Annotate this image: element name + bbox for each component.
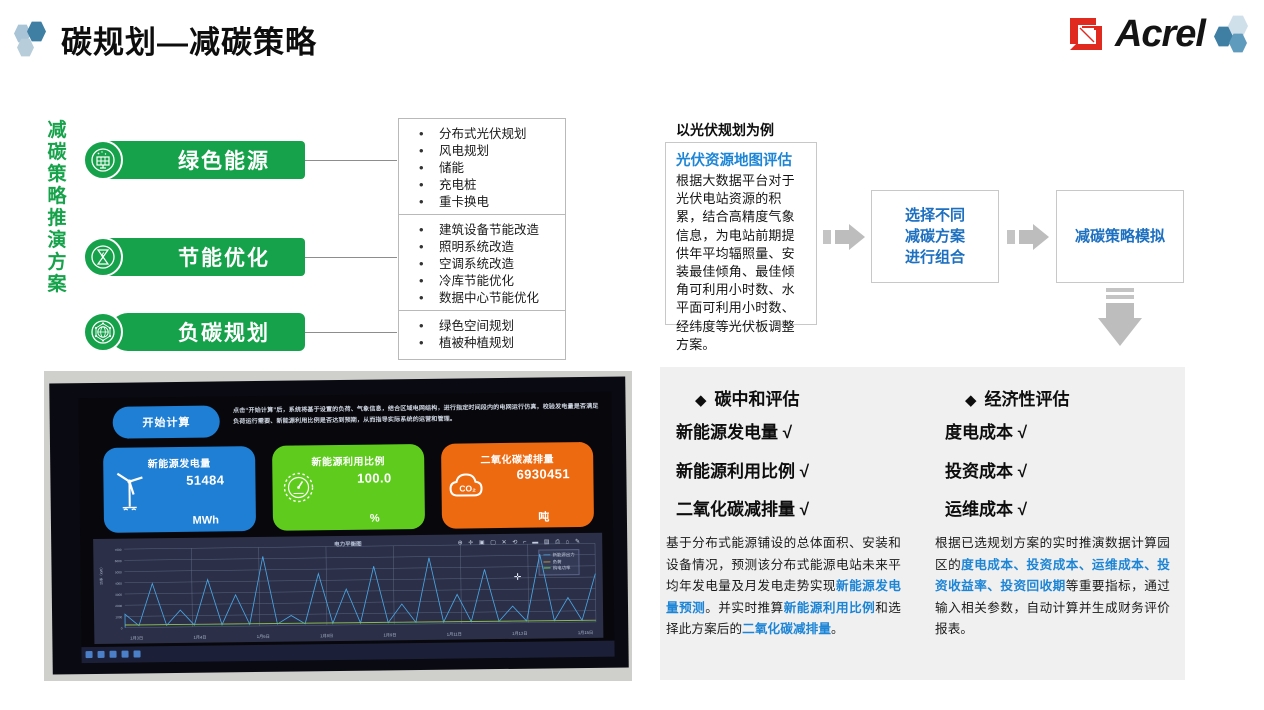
x-tick: 1月3日: [130, 636, 143, 642]
flow-step2-line3: 进行组合: [905, 247, 965, 268]
monitor-photo: 开始计算 点击“开始计算”后，系统将基于设置的负荷、气象信息，结合区域电网结构，…: [44, 371, 632, 681]
vchar: 案: [44, 274, 70, 296]
kpi-card-usage-ratio: 新能源利用比例 100.0 %: [272, 444, 425, 531]
strategy-label: 负碳规划: [144, 317, 270, 347]
eval-paragraph-economics: 根据已选规划方案的实时推演数据计算园区的度电成本、投资成本、运维成本、投资收益率…: [935, 533, 1170, 641]
bullet-box-energy-saving: 建筑设备节能改造 照明系统改造 空调系统改造 冷库节能优化 数据中心节能优化: [398, 214, 566, 315]
list-item: 冷库节能优化: [411, 273, 555, 290]
header-hex-decoration: [14, 21, 54, 55]
svg-text:4000: 4000: [115, 582, 122, 586]
globe-network-icon: [83, 312, 123, 352]
kpi-title: 新能源利用比例: [272, 452, 425, 469]
strategy-bar: 节能优化: [109, 238, 305, 276]
svg-text:CO₂: CO₂: [459, 484, 476, 494]
kpi-title: 二氧化碳减排量: [441, 450, 594, 467]
check-icon: √: [800, 462, 809, 481]
strategy-bar: 负碳规划: [109, 313, 305, 351]
check-icon: √: [1018, 423, 1027, 442]
chart-plot-area: 70006000500040003000200010000: [93, 533, 603, 644]
strategy-strip-green-energy[interactable]: 绿色能源: [83, 141, 305, 179]
svg-text:6000: 6000: [115, 560, 122, 564]
check-icon: √: [1018, 462, 1027, 481]
x-tick: 1月11日: [447, 632, 462, 638]
x-tick: 1月13日: [512, 631, 527, 637]
eval-item-capex: 投资成本 √: [945, 457, 1027, 482]
eval-item-label: 运维成本: [945, 500, 1013, 519]
flow-step2-line2: 减碳方案: [905, 226, 965, 247]
vchar: 略: [44, 186, 70, 208]
chart-crosshair-icon: ✛: [514, 572, 522, 583]
kpi-value: 6930451: [493, 467, 594, 483]
eval-item-label: 度电成本: [945, 423, 1013, 442]
arrow-down-icon: [1098, 288, 1142, 355]
list-item: 绿色空间规划: [411, 318, 555, 335]
flow-step3-label: 减碳策略模拟: [1075, 226, 1165, 247]
flow-step-strategy-simulation: 减碳策略模拟: [1056, 190, 1184, 283]
highlight-term: 二氧化碳减排量: [742, 622, 831, 636]
list-item: 重卡换电: [411, 194, 555, 211]
taskbar-icon-app[interactable]: [121, 651, 128, 658]
svg-text:2000: 2000: [115, 605, 122, 609]
flow-title: 以光伏规划为例: [676, 120, 774, 140]
kpi-card-power-generation: 新能源发电量: [103, 446, 256, 533]
x-tick: 1月8日: [320, 633, 333, 639]
diamond-icon: ◆: [695, 392, 707, 409]
kpi-value: 100.0: [324, 471, 425, 487]
brand-logo: Acrel: [1066, 10, 1252, 58]
check-icon: √: [800, 500, 809, 519]
diamond-icon: ◆: [965, 392, 977, 409]
arrow-right-icon-2: [1007, 222, 1051, 257]
eval-item-opex: 运维成本 √: [945, 495, 1027, 520]
kpi-unit: MWh: [155, 514, 256, 527]
brand-name: Acrel: [1115, 15, 1205, 53]
eval-item-label: 二氧化碳减排量: [676, 500, 795, 519]
flow-step1-body: 根据大数据平台对于光伏电站资源的积累，结合高精度气象信息，为电站前期提供年平均辐…: [676, 172, 806, 354]
evaluation-panel: ◆碳中和评估 新能源发电量 √ 新能源利用比例 √ 二氧化碳减排量 √ 基于分布…: [660, 367, 1185, 680]
check-icon: √: [783, 423, 792, 442]
connector-line-1: [305, 160, 397, 161]
kpi-card-row: 新能源发电量: [103, 442, 594, 533]
connector-line-2: [305, 257, 397, 258]
kpi-value: 51484: [155, 473, 256, 489]
kpi-unit: 吨: [493, 508, 594, 525]
vchar: 推: [44, 208, 70, 230]
vchar: 碳: [44, 142, 70, 164]
flow-step-pv-assessment: 光伏资源地图评估 根据大数据平台对于光伏电站资源的积累，结合高精度气象信息，为电…: [665, 142, 817, 325]
strategy-bar: 绿色能源: [109, 141, 305, 179]
eval-item-label: 投资成本: [945, 462, 1013, 481]
x-tick: 1月6日: [257, 634, 270, 640]
list-item: 储能: [411, 160, 555, 177]
strategy-label: 绿色能源: [144, 145, 270, 175]
x-tick: 1月15日: [578, 630, 593, 636]
svg-text:0: 0: [121, 627, 123, 631]
gauge-icon: [272, 469, 324, 508]
taskbar-icon-explorer[interactable]: [109, 651, 116, 658]
svg-text:3000: 3000: [115, 594, 122, 598]
eval-item-label: 新能源利用比例: [676, 462, 795, 481]
svg-text:5000: 5000: [115, 571, 122, 575]
co2-cloud-icon: CO₂: [441, 469, 493, 504]
taskbar-icon-edge[interactable]: [97, 651, 104, 658]
eval-heading-text: 经济性评估: [985, 390, 1070, 409]
taskbar-icon-browser[interactable]: [133, 651, 140, 658]
check-icon: √: [1018, 500, 1027, 519]
monitor-screen: 开始计算 点击“开始计算”后，系统将基于设置的负荷、气象信息，结合区域电网结构，…: [78, 392, 614, 664]
power-balance-chart: 电力平衡图 ⊕ ✛ ▣ ▢ ✕ ⟲ ⌐ ▬ ▤ ⎙ ⌂ ✎ 功率（kW） 新能源…: [93, 533, 603, 644]
bullet-box-negative-carbon: 绿色空间规划 植被种植规划: [398, 310, 566, 360]
list-item: 充电桩: [411, 177, 555, 194]
paragraph-text: 。: [831, 622, 844, 636]
calculation-note: 点击“开始计算”后，系统将基于设置的负荷、气象信息，结合区域电网结构，进行指定时…: [233, 401, 601, 427]
bullet-box-green-energy: 分布式光伏规划 风电规划 储能 充电桩 重卡换电: [398, 118, 566, 219]
page-title: 碳规划—减碳策略: [61, 17, 317, 62]
paragraph-text: 。并实时推算: [705, 601, 783, 615]
eval-heading-carbon-neutral: ◆碳中和评估: [695, 385, 800, 410]
hourglass-bolt-icon: [83, 237, 123, 277]
list-item: 建筑设备节能改造: [411, 222, 555, 239]
logo-hex-decoration: [1214, 15, 1252, 53]
kpi-unit: %: [324, 512, 425, 525]
windows-taskbar[interactable]: [81, 641, 614, 663]
vchar: 演: [44, 230, 70, 252]
start-calculation-button[interactable]: 开始计算: [113, 406, 220, 439]
svg-text:7000: 7000: [115, 549, 122, 553]
wind-turbine-icon: [103, 467, 155, 514]
hex-light2-icon: [17, 38, 34, 57]
monitor-bezel: 开始计算 点击“开始计算”后，系统将基于设置的负荷、气象信息，结合区域电网结构，…: [49, 377, 629, 675]
eval-item-label: 新能源发电量: [676, 423, 778, 442]
list-item: 数据中心节能优化: [411, 290, 555, 307]
eval-item-power-generation: 新能源发电量 √: [676, 418, 792, 443]
strategy-strip-negative-carbon[interactable]: 负碳规划: [83, 313, 305, 351]
vertical-strategy-label: 减 碳 策 略 推 演 方 案: [44, 120, 70, 296]
eval-heading-economics: ◆经济性评估: [965, 385, 1070, 410]
solar-panel-icon: [83, 140, 123, 180]
vchar: 减: [44, 120, 70, 142]
eval-heading-text: 碳中和评估: [715, 390, 800, 409]
acrel-square-logo-icon: [1066, 14, 1106, 54]
x-tick: 1月4日: [193, 635, 206, 641]
list-item: 风电规划: [411, 143, 555, 160]
list-item: 空调系统改造: [411, 256, 555, 273]
connector-line-3: [305, 332, 397, 333]
logo-hex-mid-icon: [1229, 33, 1247, 53]
x-tick: 1月9日: [383, 633, 396, 639]
flow-step2-line1: 选择不同: [905, 205, 965, 226]
slide-root: 碳规划—减碳策略 Acrel 减 碳 策 略 推 演 方 案 绿色能源: [0, 0, 1264, 710]
eval-item-co2-reduction: 二氧化碳减排量 √: [676, 495, 809, 520]
list-item: 照明系统改造: [411, 239, 555, 256]
highlight-term: 新能源利用比例: [784, 601, 876, 615]
taskbar-icon-start[interactable]: [85, 652, 92, 659]
kpi-title: 新能源发电量: [103, 454, 256, 471]
eval-item-usage-ratio: 新能源利用比例 √: [676, 457, 809, 482]
flow-step-combine-plans: 选择不同 减碳方案 进行组合: [871, 190, 999, 283]
strategy-label: 节能优化: [144, 242, 270, 272]
list-item: 分布式光伏规划: [411, 126, 555, 143]
list-item: 植被种植规划: [411, 335, 555, 352]
eval-paragraph-carbon-neutral: 基于分布式能源铺设的总体面积、安装和设备情况，预测该分布式能源电站未来平均年发电…: [666, 533, 901, 641]
svg-text:1000: 1000: [116, 616, 123, 620]
vchar: 方: [44, 252, 70, 274]
vchar: 策: [44, 164, 70, 186]
strategy-strip-energy-saving[interactable]: 节能优化: [83, 238, 305, 276]
arrow-right-icon-1: [823, 222, 867, 257]
eval-item-lcoe: 度电成本 √: [945, 418, 1027, 443]
flow-step1-heading: 光伏资源地图评估: [676, 151, 806, 171]
kpi-card-co2-reduction: 二氧化碳减排量 CO₂ 6930451 吨: [441, 442, 594, 529]
